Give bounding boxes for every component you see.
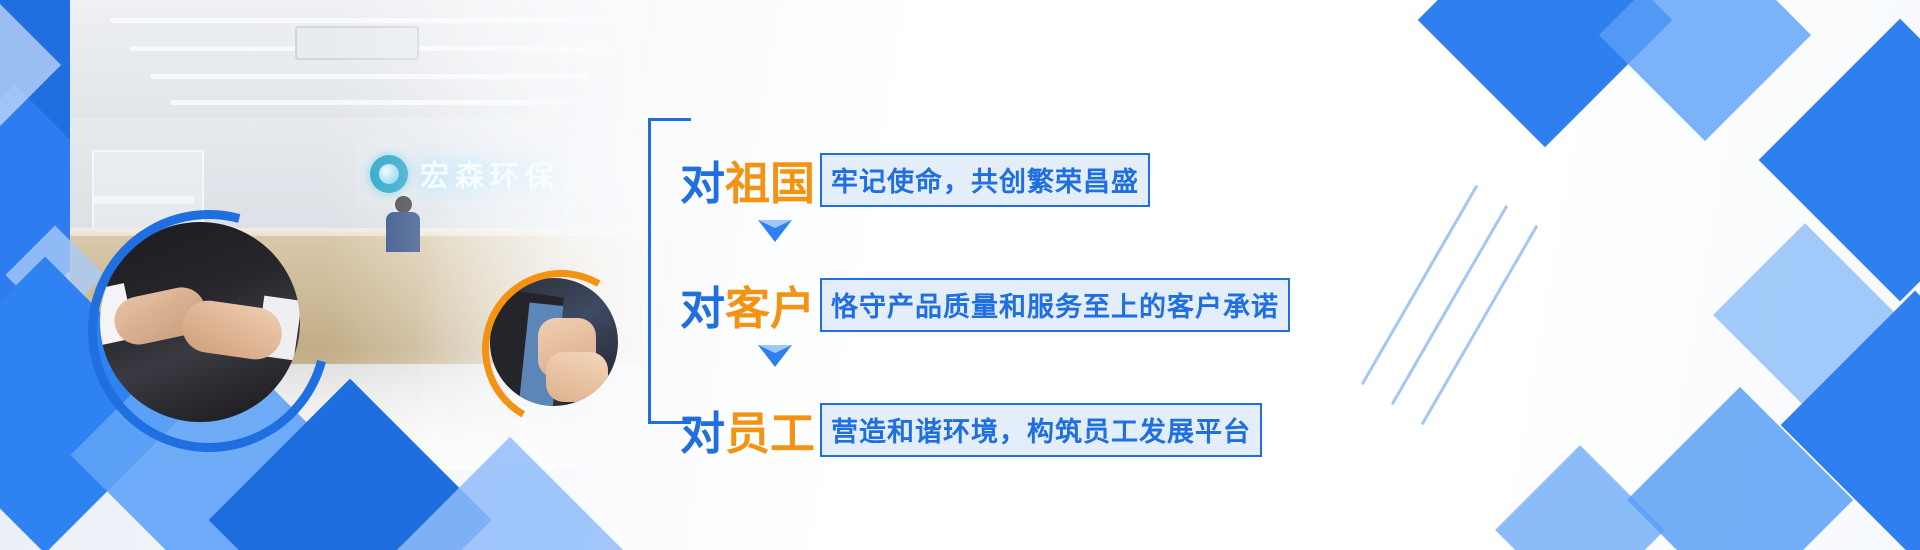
arrow-down-icon (758, 345, 792, 367)
value-accent-employee: 员工 (725, 397, 815, 462)
value-row-employee: 对 员工 营造和谐环境，构筑员工发展平台 (680, 397, 1262, 462)
value-chip-employee: 营造和谐环境，构筑员工发展平台 (820, 403, 1262, 457)
values-text-block: 对 祖国 牢记使命，共创繁荣昌盛 对 客户 恪守产品质量和服务至上的客户承诺 对… (648, 62, 1348, 462)
applause-photo-circle (490, 278, 618, 406)
value-lead-customer: 对 (680, 272, 725, 337)
value-row-customer: 对 客户 恪守产品质量和服务至上的客户承诺 (680, 272, 1290, 337)
value-chip-country: 牢记使命，共创繁荣昌盛 (820, 153, 1150, 207)
value-chip-text-country: 牢记使命，共创繁荣昌盛 (831, 160, 1139, 199)
value-chip-customer: 恪守产品质量和服务至上的客户承诺 (820, 278, 1290, 332)
value-accent-customer: 客户 (725, 272, 815, 337)
value-row-country: 对 祖国 牢记使命，共创繁荣昌盛 (680, 147, 1150, 212)
handshake-photo-circle (100, 222, 300, 422)
value-chip-text-employee: 营造和谐环境，构筑员工发展平台 (831, 410, 1251, 449)
company-values-banner: 宏森环保 HONGSEN ENVIRONMENTAL (0, 0, 1920, 550)
value-lead-employee: 对 (680, 397, 725, 462)
value-accent-country: 祖国 (725, 147, 815, 212)
value-chip-text-customer: 恪守产品质量和服务至上的客户承诺 (831, 285, 1279, 324)
value-lead-country: 对 (680, 147, 725, 212)
arrow-down-icon (758, 220, 792, 242)
